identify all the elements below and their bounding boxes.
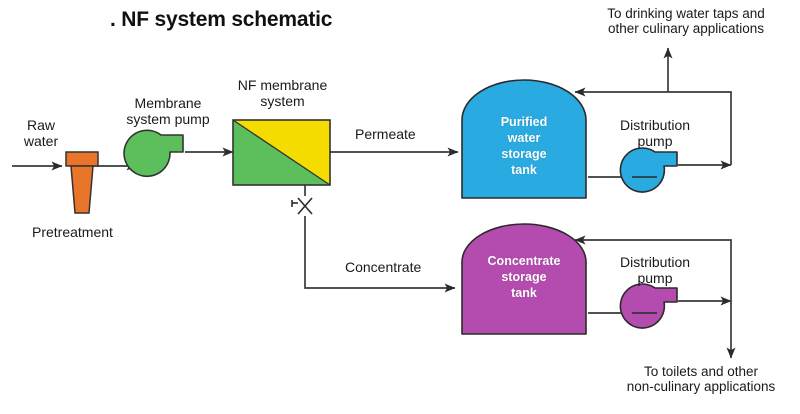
distribution-pump-purified: [620, 148, 677, 192]
label-distribution-pump-bottom: Distribution pump: [600, 255, 710, 286]
label-distribution-pump-top: Distribution pump: [600, 118, 710, 149]
label-to-toilets: To toilets and other non-culinary applic…: [596, 364, 800, 394]
schematic-vector-layer: [0, 0, 800, 414]
label-permeate: Permeate: [355, 127, 416, 143]
label-pretreatment: Pretreatment: [32, 225, 113, 241]
schematic-canvas: . NF system schematic Raw water Pretreat…: [0, 0, 800, 414]
label-membrane-system-pump: Membrane system pump: [110, 96, 226, 127]
nf-membrane-module: [233, 120, 330, 185]
label-to-drinking-water: To drinking water taps and other culinar…: [570, 6, 800, 36]
label-nf-membrane-system: NF membrane system: [225, 78, 340, 109]
distribution-pump-concentrate: [620, 284, 677, 328]
membrane-system-pump: [124, 130, 183, 176]
page-title: . NF system schematic: [110, 8, 332, 32]
concentrate-tank-label: Concentrate storage tank: [460, 253, 588, 301]
purified-tank-label: Purified water storage tank: [462, 114, 586, 178]
flow-concentrate-seg-b: [305, 216, 455, 288]
label-raw-water: Raw water: [8, 118, 74, 149]
concentrate-valve: [292, 198, 312, 214]
pretreatment-filter: [66, 152, 98, 213]
label-concentrate: Concentrate: [345, 260, 421, 276]
